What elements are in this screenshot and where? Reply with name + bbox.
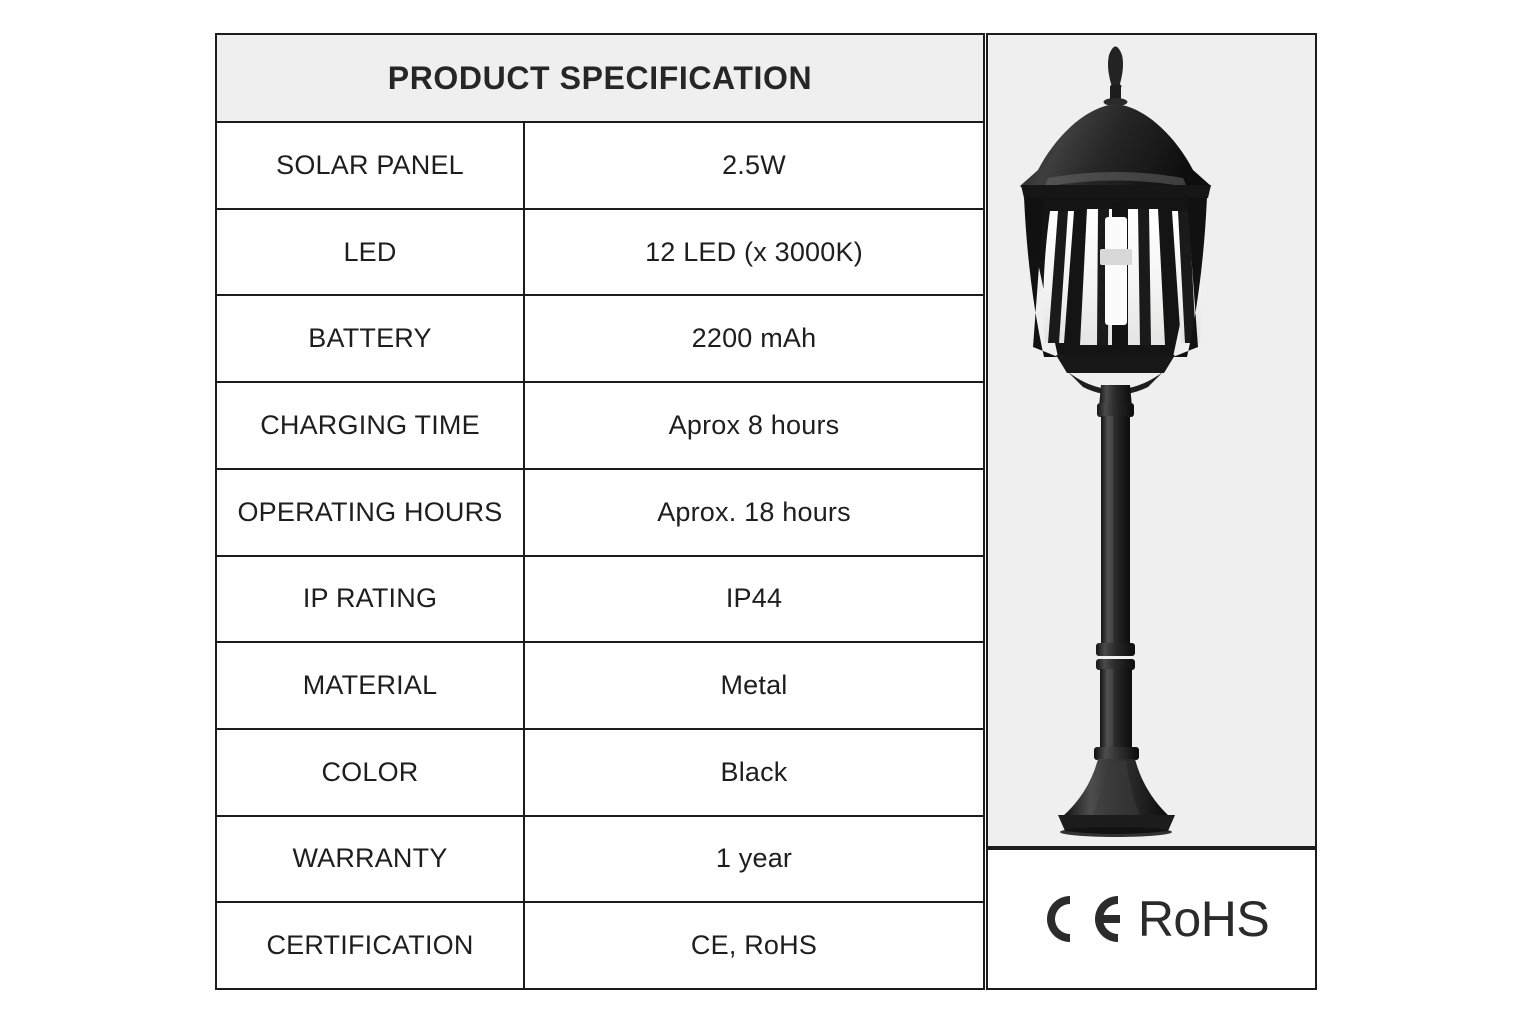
spec-value-cell: Aprox 8 hours bbox=[525, 383, 983, 468]
solar-lamp-post-image bbox=[988, 35, 1315, 846]
spec-value-text: CE, RoHS bbox=[691, 930, 817, 961]
table-row: CERTIFICATION CE, RoHS bbox=[217, 903, 983, 988]
spec-value-cell: 1 year bbox=[525, 817, 983, 902]
spec-label-text: OPERATING HOURS bbox=[237, 497, 502, 528]
base-collar bbox=[1094, 747, 1139, 760]
table-row: CHARGING TIME Aprox 8 hours bbox=[217, 383, 983, 470]
page-title: PRODUCT SPECIFICATION bbox=[388, 60, 812, 97]
spec-value-cell: CE, RoHS bbox=[525, 903, 983, 988]
spec-label-cell: LED bbox=[217, 210, 525, 295]
spec-value-cell: IP44 bbox=[525, 557, 983, 642]
table-header-row: PRODUCT SPECIFICATION bbox=[217, 35, 983, 123]
spec-value-text: IP44 bbox=[726, 583, 782, 614]
spec-label-cell: MATERIAL bbox=[217, 643, 525, 728]
spec-label-cell: CHARGING TIME bbox=[217, 383, 525, 468]
spec-value-cell: Black bbox=[525, 730, 983, 815]
lantern-bottom-rim bbox=[1056, 355, 1175, 373]
spec-label-text: MATERIAL bbox=[303, 670, 438, 701]
table-body: SOLAR PANEL 2.5W LED 12 LED (x 3000K) BA… bbox=[217, 123, 983, 988]
bulb-socket bbox=[1100, 249, 1132, 265]
product-image-panel bbox=[986, 33, 1317, 848]
spec-label-cell: OPERATING HOURS bbox=[217, 470, 525, 555]
pole-collar-mid-lower bbox=[1096, 659, 1135, 670]
spec-label-text: BATTERY bbox=[308, 323, 431, 354]
spec-label-text: IP RATING bbox=[303, 583, 437, 614]
table-row: IP RATING IP44 bbox=[217, 557, 983, 644]
specification-table: PRODUCT SPECIFICATION SOLAR PANEL 2.5W L… bbox=[215, 33, 985, 990]
led-bulb bbox=[1105, 217, 1127, 325]
spec-value-cell: 2200 mAh bbox=[525, 296, 983, 381]
finial-tip bbox=[1108, 47, 1123, 88]
spec-value-cell: Aprox. 18 hours bbox=[525, 470, 983, 555]
spec-value-cell: 2.5W bbox=[525, 123, 983, 208]
spec-value-text: 2200 mAh bbox=[692, 323, 817, 354]
pole-lower-shaft bbox=[1100, 669, 1132, 753]
spec-value-cell: Metal bbox=[525, 643, 983, 728]
spec-label-text: CHARGING TIME bbox=[260, 410, 480, 441]
spec-value-text: Aprox. 18 hours bbox=[657, 497, 851, 528]
spec-value-text: Metal bbox=[720, 670, 787, 701]
certification-panel: RoHS bbox=[986, 848, 1317, 990]
spec-label-text: COLOR bbox=[321, 757, 418, 788]
pole-collar-top bbox=[1097, 403, 1134, 417]
table-row: OPERATING HOURS Aprox. 18 hours bbox=[217, 470, 983, 557]
lantern-rib bbox=[1138, 209, 1151, 345]
table-row: WARRANTY 1 year bbox=[217, 817, 983, 904]
spec-label-cell: SOLAR PANEL bbox=[217, 123, 525, 208]
spec-label-text: SOLAR PANEL bbox=[276, 150, 464, 181]
spec-label-text: WARRANTY bbox=[292, 843, 447, 874]
pole-upper-shaft bbox=[1101, 416, 1130, 648]
spec-label-text: LED bbox=[343, 237, 396, 268]
ce-mark-icon bbox=[1034, 890, 1124, 948]
spec-label-cell: COLOR bbox=[217, 730, 525, 815]
table-row: SOLAR PANEL 2.5W bbox=[217, 123, 983, 210]
pole-highlight bbox=[1107, 416, 1113, 648]
table-row: COLOR Black bbox=[217, 730, 983, 817]
lamp-post-illustration bbox=[988, 35, 1314, 845]
base-shadow bbox=[1060, 827, 1172, 837]
table-row: MATERIAL Metal bbox=[217, 643, 983, 730]
spec-value-text: 1 year bbox=[716, 843, 792, 874]
table-row: BATTERY 2200 mAh bbox=[217, 296, 983, 383]
pole-highlight-lower bbox=[1106, 669, 1113, 753]
spec-value-cell: 12 LED (x 3000K) bbox=[525, 210, 983, 295]
roof-rim bbox=[1021, 185, 1211, 198]
spec-value-text: Aprox 8 hours bbox=[669, 410, 840, 441]
spec-label-cell: WARRANTY bbox=[217, 817, 525, 902]
spec-label-cell: IP RATING bbox=[217, 557, 525, 642]
rohs-label: RoHS bbox=[1138, 894, 1269, 944]
spec-value-text: 12 LED (x 3000K) bbox=[645, 237, 863, 268]
spec-label-cell: CERTIFICATION bbox=[217, 903, 525, 988]
product-spec-sheet: PRODUCT SPECIFICATION SOLAR PANEL 2.5W L… bbox=[0, 0, 1536, 1024]
spec-value-text: 2.5W bbox=[722, 150, 786, 181]
spec-value-text: Black bbox=[720, 757, 787, 788]
table-row: LED 12 LED (x 3000K) bbox=[217, 210, 983, 297]
pole-collar-mid-upper bbox=[1096, 643, 1135, 656]
spec-label-cell: BATTERY bbox=[217, 296, 525, 381]
spec-label-text: CERTIFICATION bbox=[266, 930, 473, 961]
